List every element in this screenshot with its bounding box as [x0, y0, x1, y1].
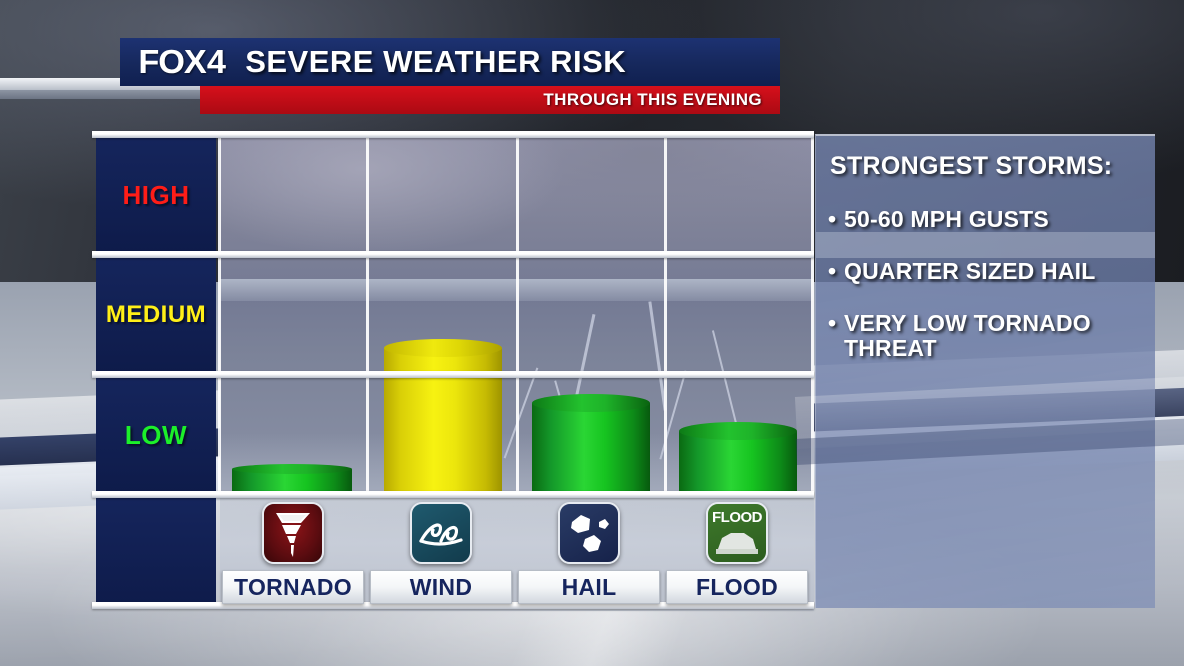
grid-hline-high: [92, 251, 814, 258]
bar-wind-body: [384, 348, 502, 493]
page-title: SEVERE WEATHER RISK: [245, 44, 626, 80]
risk-label-medium: MEDIUM: [106, 301, 206, 329]
category-label: WIND: [410, 574, 473, 601]
floor-streak: [509, 608, 690, 666]
bar-flood-top: [679, 422, 797, 440]
page-subtitle: THROUGH THIS EVENING: [543, 90, 762, 110]
header-ledge-shadow: [0, 90, 212, 99]
panel-bullet-gusts: 50-60 MPH GUSTS: [828, 207, 1141, 233]
icon-cell-tornado: [222, 498, 364, 568]
grid-vline: [664, 133, 667, 493]
flood-icon: FLOOD: [706, 502, 768, 564]
hail-glyph: [565, 510, 613, 556]
grid-hline-medium: [92, 371, 814, 378]
channel-number: 4: [207, 43, 225, 81]
grid-vline: [516, 133, 519, 493]
panel-arc-navy: [796, 417, 1184, 465]
bar-tornado: [232, 469, 352, 493]
title-banner-red: THROUGH THIS EVENING: [200, 86, 780, 114]
strongest-storms-panel: STRONGEST STORMS: 50-60 MPH GUSTS QUARTE…: [815, 134, 1155, 608]
bar-tornado-top: [232, 464, 352, 474]
risk-cell-high: HIGH: [96, 137, 216, 253]
bar-hail: [532, 403, 650, 493]
bar-hail-body: [532, 403, 650, 493]
risk-cell-blank: [96, 497, 216, 608]
icon-cell-wind: [370, 498, 512, 568]
fox4-logo: FOX4: [138, 43, 225, 81]
category-label: TORNADO: [234, 574, 352, 601]
grid-hline-top: [92, 131, 814, 138]
category-plate-flood[interactable]: FLOOD: [666, 570, 808, 604]
bar-hail-top: [532, 394, 650, 412]
wind-icon: [410, 502, 472, 564]
icon-cell-flood: FLOOD: [666, 498, 808, 568]
category-plate-hail[interactable]: HAIL: [518, 570, 660, 604]
hail-icon: [558, 502, 620, 564]
panel-bullet-tornado: VERY LOW TORNADO THREAT: [828, 311, 1141, 363]
tornado-icon: [262, 502, 324, 564]
risk-cell-low: LOW: [96, 377, 216, 493]
bar-flood-body: [679, 431, 797, 493]
panel-arc-highlight: [795, 375, 1184, 449]
title-banner: FOX4 SEVERE WEATHER RISK THROUGH THIS EV…: [120, 38, 780, 86]
panel-bullet-hail: QUARTER SIZED HAIL: [828, 259, 1141, 285]
grid-hline-low: [92, 491, 814, 498]
broadcast-graphic: FOX4 SEVERE WEATHER RISK THROUGH THIS EV…: [0, 0, 1184, 666]
wind-glyph: [417, 511, 465, 555]
lightning-bolt: [712, 330, 738, 428]
risk-cell-medium: MEDIUM: [96, 257, 216, 373]
category-plate-wind[interactable]: WIND: [370, 570, 512, 604]
bar-flood: [679, 431, 797, 493]
risk-label-high: HIGH: [123, 180, 190, 211]
bar-wind: [384, 348, 502, 493]
fox-wordmark: FOX: [138, 43, 205, 81]
tornado-glyph: [270, 507, 316, 559]
title-banner-blue: FOX4 SEVERE WEATHER RISK: [120, 38, 780, 86]
risk-label-low: LOW: [125, 420, 187, 451]
flood-icon-label: FLOOD: [708, 509, 766, 526]
category-label: HAIL: [562, 574, 617, 601]
panel-heading: STRONGEST STORMS:: [830, 152, 1141, 181]
risk-chart: HIGH MEDIUM LOW: [92, 133, 814, 611]
icon-cell-hail: [518, 498, 660, 568]
submerged-car-glyph: [713, 529, 761, 555]
bar-wind-top: [384, 339, 502, 357]
grid-vline: [811, 133, 814, 493]
category-label: FLOOD: [696, 574, 778, 601]
grid-vline: [366, 133, 369, 493]
category-plate-tornado[interactable]: TORNADO: [222, 570, 364, 604]
